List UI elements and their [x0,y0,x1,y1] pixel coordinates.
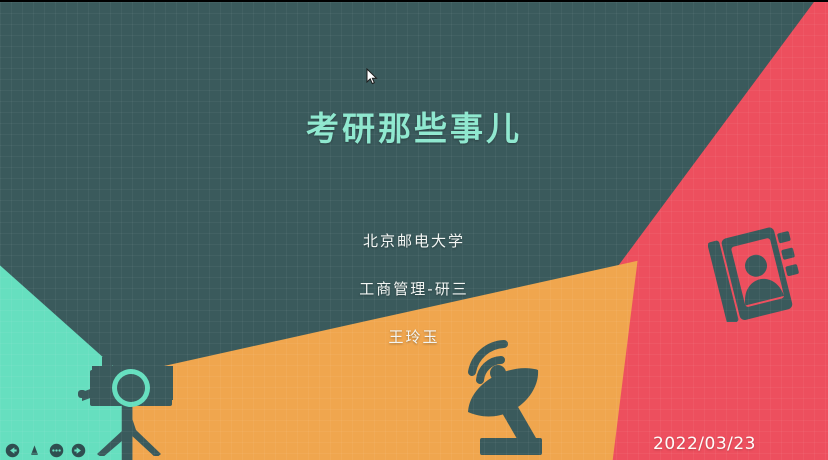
previous-slide-button[interactable] [5,443,20,458]
subtitle-block: 北京邮电大学 工商管理-研三 王玲玉 [0,230,828,374]
more-options-button[interactable] [49,443,64,458]
presentation-slide[interactable]: 考研那些事儿 北京邮电大学 工商管理-研三 王玲玉 2022/03/23 [0,0,828,460]
subtitle-line-university: 北京邮电大学 [0,230,828,251]
mouse-cursor [366,68,378,86]
page-title: 考研那些事儿 [0,102,828,150]
next-slide-button[interactable] [71,443,86,458]
pen-tool-button[interactable] [27,443,42,458]
subtitle-line-program: 工商管理-研三 [0,278,828,299]
subtitle-line-author: 王玲玉 [0,326,828,347]
slide-date: 2022/03/23 [653,434,756,454]
slideshow-controls[interactable] [5,443,86,458]
